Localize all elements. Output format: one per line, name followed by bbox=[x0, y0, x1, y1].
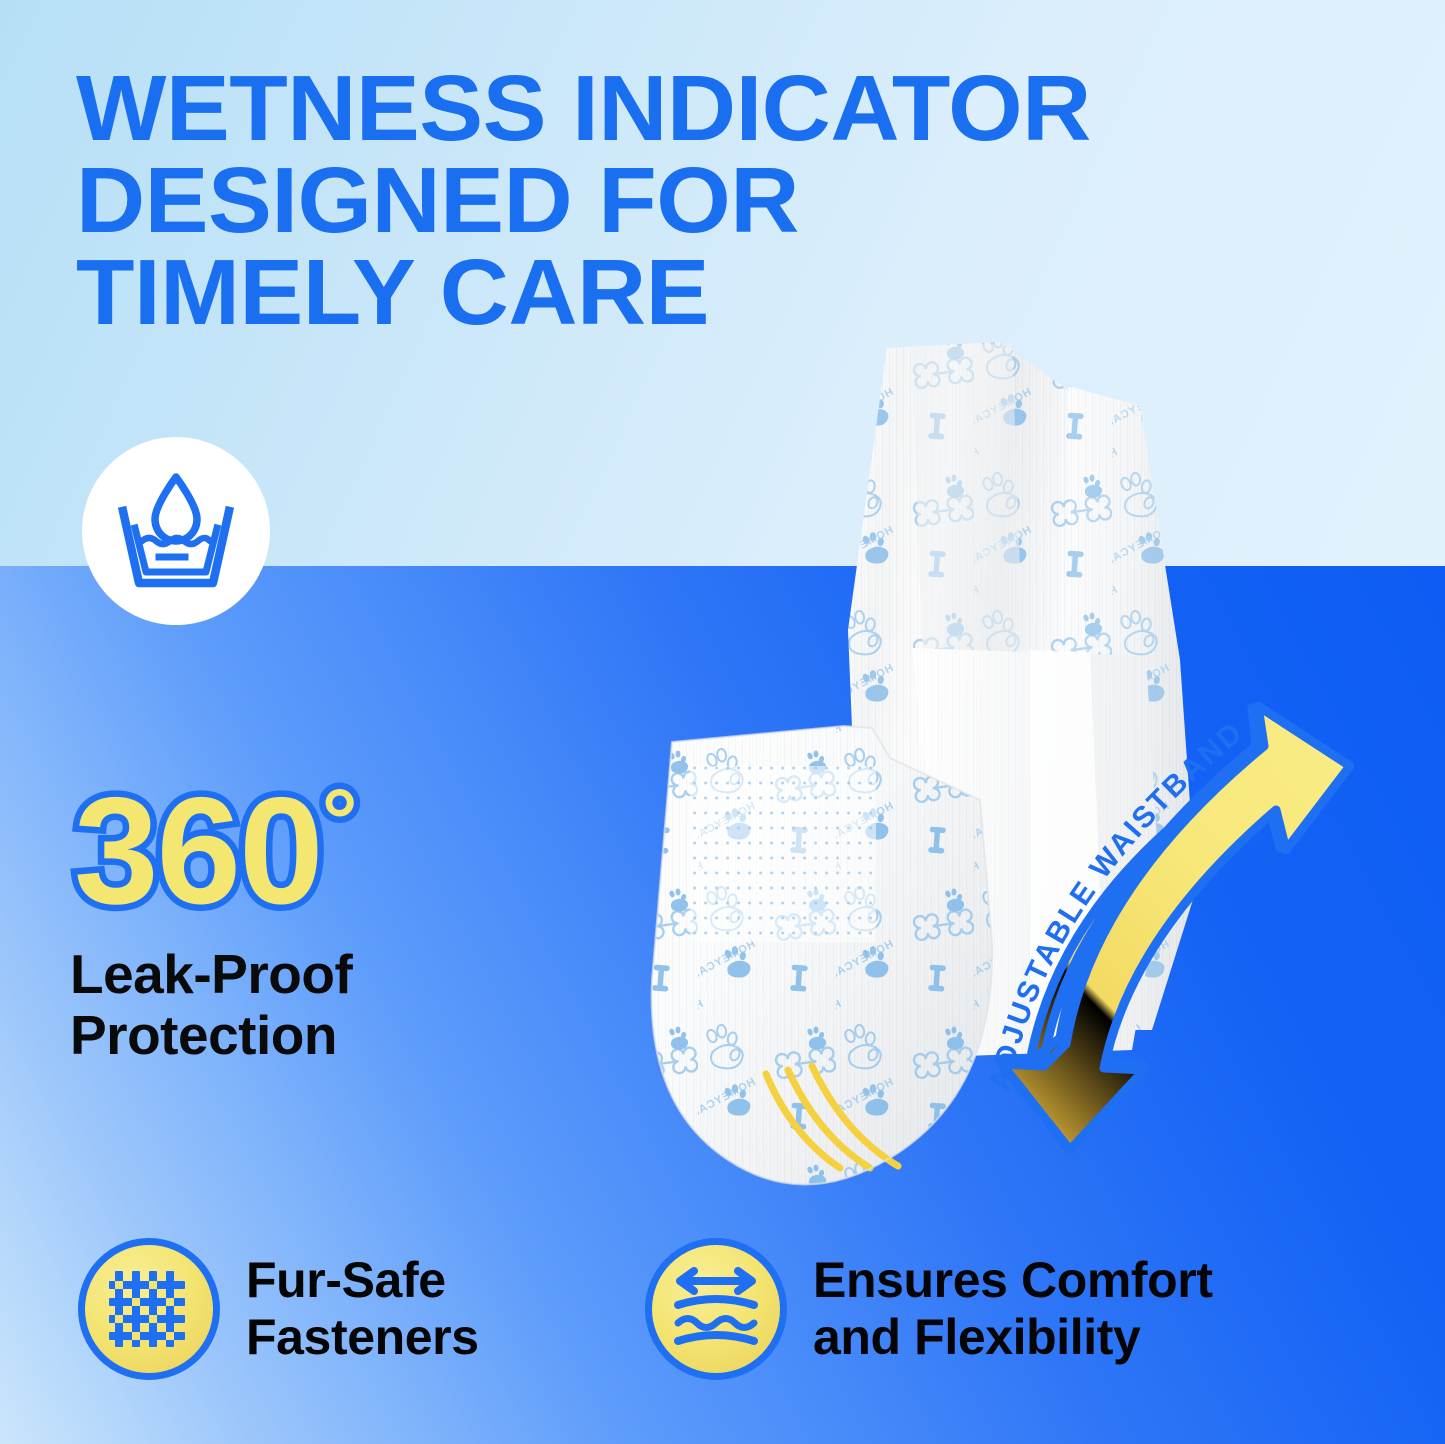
stretch-arrows-badge bbox=[645, 1238, 787, 1380]
leak-proof-caption: Leak-Proof Protection bbox=[70, 944, 540, 1067]
woven-mesh-icon bbox=[107, 1267, 191, 1351]
product-image-dog-diaper: HOMEYCARE HOMEYCARE bbox=[560, 330, 1350, 1220]
water-drop-basin-icon bbox=[115, 471, 237, 591]
leak-proof-number: 360° bbox=[74, 782, 540, 922]
infographic-canvas: WETNESS INDICATOR DESIGNED FOR TIMELY CA… bbox=[0, 0, 1445, 1444]
diaper-front-panel bbox=[652, 726, 993, 1185]
page-title: WETNESS INDICATOR DESIGNED FOR TIMELY CA… bbox=[76, 62, 1333, 338]
stretch-arrows-icon bbox=[670, 1267, 762, 1351]
leak-proof-block: 360° Leak-Proof Protection bbox=[70, 782, 540, 1067]
feature-fur-safe-fasteners: Fur-Safe Fasteners bbox=[78, 1238, 479, 1380]
feature-label: Ensures Comfort and Flexibility bbox=[813, 1252, 1213, 1366]
wetness-indicator-badge bbox=[82, 437, 270, 625]
fastener-landing-zone bbox=[690, 766, 876, 942]
woven-mesh-badge bbox=[78, 1238, 220, 1380]
feature-comfort-flexibility: Ensures Comfort and Flexibility bbox=[645, 1238, 1213, 1380]
feature-label: Fur-Safe Fasteners bbox=[246, 1252, 479, 1366]
